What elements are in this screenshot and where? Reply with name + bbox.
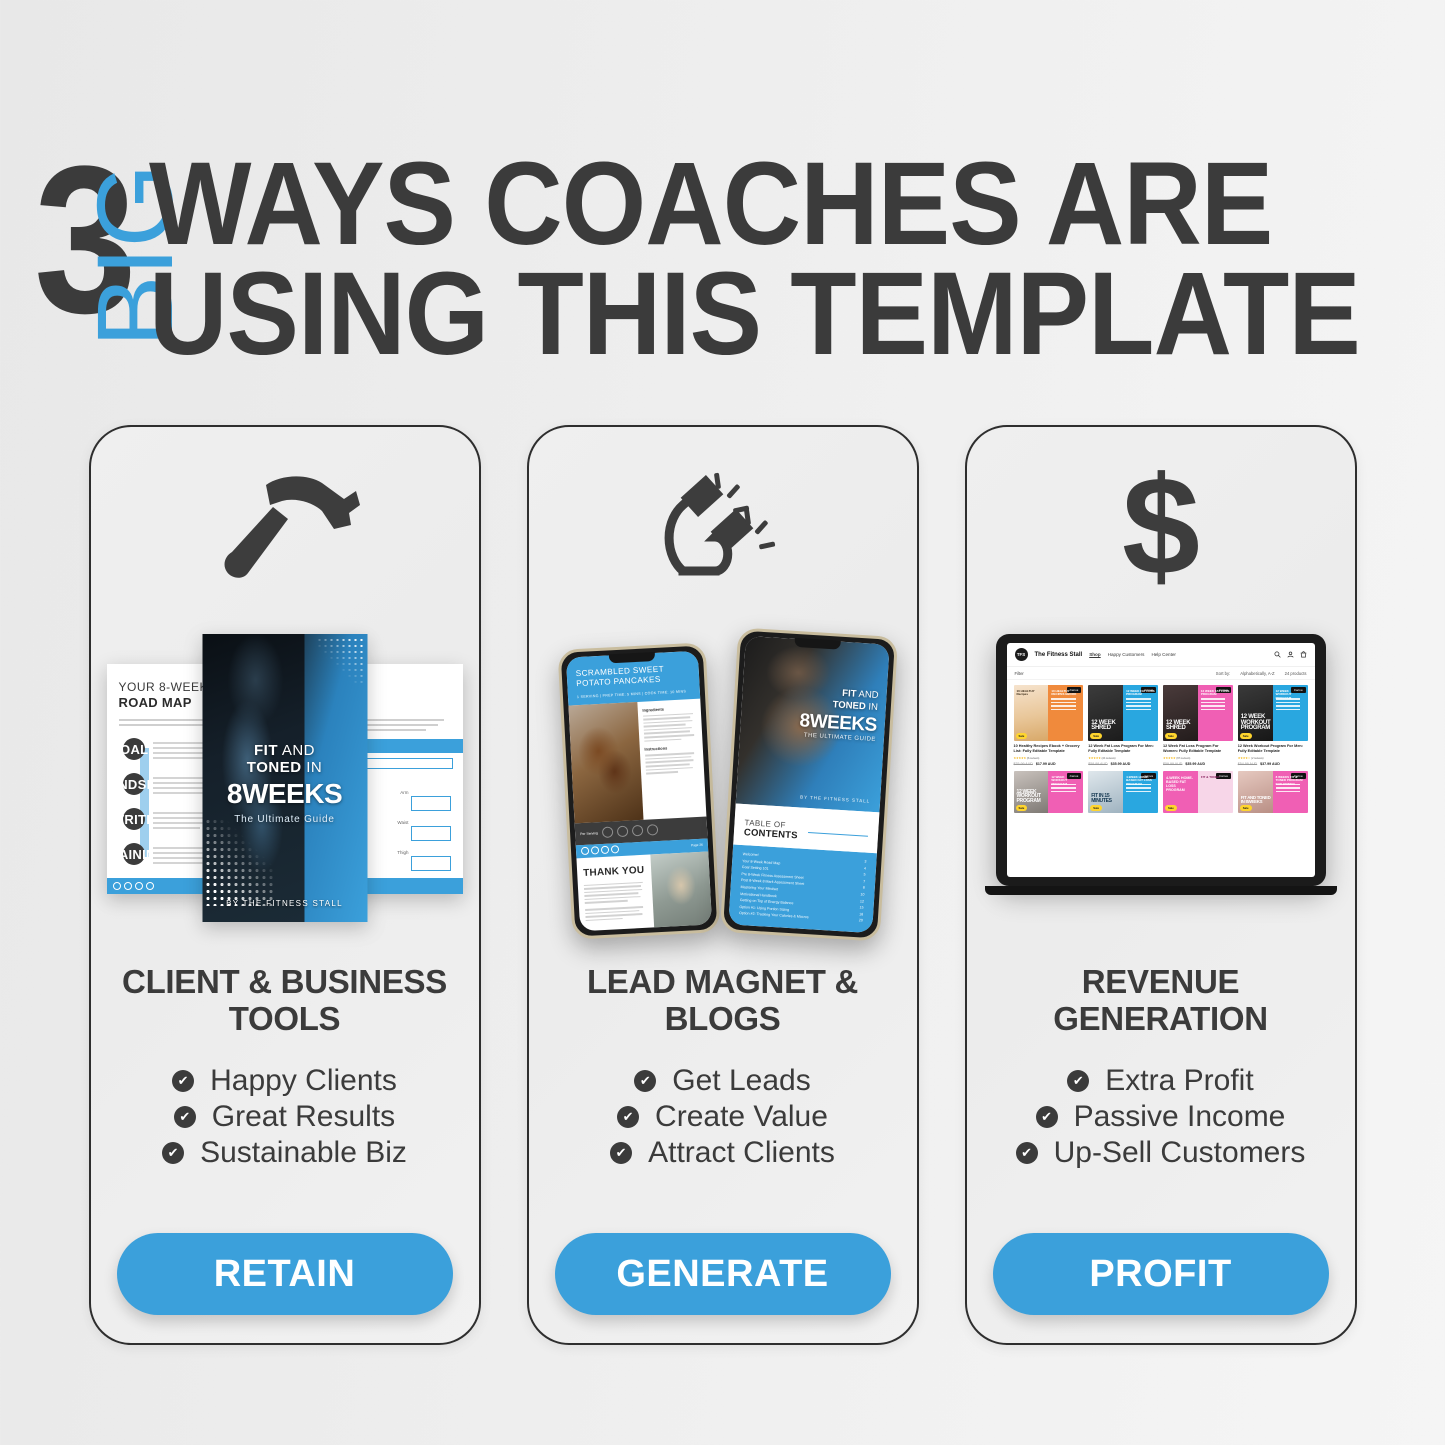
social-icon [580,847,588,855]
product-card[interactable]: 12 WEEK SHRED Sale Canva 12 WEEK FAT LOS… [1088,685,1158,766]
card-bullet-list: ✔ Extra Profit ✔ Passive Income ✔ Up-Sel… [1016,1064,1306,1170]
card-mockup-documents: YOUR 8-WEEK ROAD MAP GOALS MINDSET NUTRI… [91,612,479,942]
ebook-cover-photo: FIT AND TONED IN 8WEEKS THE ULTIMATE GUI… [735,636,889,813]
toc-heading-block: TABLE OF CONTENTS [733,804,879,854]
product-thumbnail: 10 HEALTHY Recipes Sale Canva 10 HEALTHY… [1014,685,1084,741]
social-icon [610,845,618,853]
phone-screen: SCRAMBLED SWEET POTATO PANCAKES 1 SERVIN… [565,651,711,932]
check-icon: ✔ [1067,1070,1089,1092]
card-title: REVENUE GENERATION [967,964,1355,1038]
product-title: 12 Week Workout Program For Men: Fully E… [1238,744,1308,754]
cover-caption: 12 WEEK SHRED [1091,721,1123,732]
headline-lines: WAYS COACHES ARE USING THIS TEMPLATE [149,150,1445,369]
cover-caption: 12 WEEK WORKOUT PROGRAM [1017,790,1049,804]
nav-link-help-center[interactable]: Help Center [1151,652,1176,657]
bullet-label: Attract Clients [648,1136,835,1170]
feature-card-client-business-tools[interactable]: YOUR 8-WEEK ROAD MAP GOALS MINDSET NUTRI… [89,425,481,1345]
product-panel: Canva FIT & TONED [1198,771,1233,813]
product-cover: 12 WEEK WORKOUT PROGRAM Sale [1238,685,1273,741]
product-card[interactable]: 12 WEEK SHRED Sale Canva 12 WEEK FAT LOS… [1163,685,1233,766]
check-icon: ✔ [162,1142,184,1164]
bullet-label: Extra Profit [1105,1064,1253,1098]
toc-label: Goal Setting 101 [741,865,768,871]
social-icon [590,846,598,854]
store-brand-name: The Fitness Stall [1035,652,1083,658]
review-count: (24 reviews) [1102,756,1116,760]
toc-page: 4 [863,866,865,870]
bullet-item: ✔ Create Value [617,1100,828,1134]
thank-you-photo [650,851,712,931]
thank-you-section: THANK YOU [576,851,712,931]
product-card[interactable]: 12 WEEK WORKOUT PROGRAM Sale Canva 12 WE… [1014,771,1084,813]
nutrition-circle [616,826,628,838]
bullet-label: Passive Income [1074,1100,1286,1134]
panel-caption: 10 HEALTHY RECIPES EBOOK [1051,690,1080,697]
product-thumbnail: 12 WEEK WORKOUT PROGRAM Sale Canva 12 WE… [1238,685,1308,741]
per-serving-label: Per Serving [580,831,598,836]
recipe-meta: 1 SERVING | PREP TIME: 5 MINS | COOK TIM… [576,689,690,699]
cta-button-generate[interactable]: GENERATE [555,1233,891,1315]
toc-label: Option #1: Using Portion Sizing [739,905,789,912]
bullet-item: ✔ Extra Profit [1067,1064,1253,1098]
old-price: $59.99 AUD [1163,762,1182,766]
card-title: CLIENT & BUSINESS TOOLS [91,964,479,1038]
social-icon [113,882,121,890]
store-navbar: TFS The Fitness Stall Shop Happy Custome… [1007,643,1315,667]
feature-card-lead-magnet-blogs[interactable]: SCRAMBLED SWEET POTATO PANCAKES 1 SERVIN… [527,425,919,1345]
measure-input [411,856,451,871]
product-rating: ★★★★★ (24 reviews) [1088,756,1158,760]
panel-caption: 12 WEEK FAT LOSS PROGRAM [1126,690,1155,697]
card-title: LEAD MAGNET & BLOGS [529,964,917,1038]
product-panel: Canva 12 WEEK WORKOUT PROGRAM [1273,685,1308,741]
recipe-section-instructions: Instructions [644,744,698,752]
review-count: (2 reviews) [1251,756,1263,760]
ebook-word-in: IN [306,759,322,776]
tablet-base [985,886,1337,895]
toc-page: 7 [863,879,865,883]
nav-link-happy-customers[interactable]: Happy Customers [1108,652,1145,657]
product-thumbnail: FIT IN 15 MINUTES Sale Canva 4-WEEK HOME… [1088,771,1158,813]
roadmap-spine [140,748,149,857]
bullet-label: Happy Clients [210,1064,397,1098]
sale-badge: Sale [1240,733,1252,739]
product-panel: Canva 8 WEEKS FIT & TONED PROGRAM FOR WO… [1273,771,1308,813]
roadmap-step-label: MINDSET [123,773,145,795]
bullet-label: Up-Sell Customers [1054,1136,1306,1170]
cover-caption: FIT AND TONED IN 8WEEKS [1241,796,1273,804]
current-price: $37.99 AUD [1260,762,1280,766]
page-label: Page 26 [690,843,702,848]
roadmap-step-label: GOALS [123,738,145,760]
toc-label: Your 8-Week Road Map [742,859,780,865]
bullet-item: ✔ Get Leads [634,1064,810,1098]
product-cover: 12 WEEK WORKOUT PROGRAM Sale [1014,771,1049,813]
sale-badge: Sale [1165,805,1177,811]
product-cover: 4-WEEK HOME-BASED FAT LOSS PROGRAM Sale [1163,771,1198,813]
nutrition-circle [631,825,643,837]
ebook-word-in: IN [867,702,877,714]
bullet-label: Sustainable Biz [200,1136,407,1170]
roadmap-step-label: NUTRITION [123,808,145,830]
hammer-icon [210,467,360,587]
sale-badge: Sale [1016,733,1028,739]
sale-badge: Sale [1240,805,1252,811]
sale-badge: Sale [1016,805,1028,811]
svg-text:$: $ [1122,462,1200,592]
product-cover: 10 HEALTHY Recipes Sale [1014,685,1049,741]
nutrition-circle [646,824,658,836]
bullet-item: ✔ Attract Clients [610,1136,835,1170]
product-rating: ★★★★☆ (2 reviews) [1238,756,1308,760]
cover-caption: 12 WEEK SHRED [1166,721,1198,732]
panel-caption: FIT & TONED [1201,776,1230,779]
card-mockup-phones: SCRAMBLED SWEET POTATO PANCAKES 1 SERVIN… [529,612,917,942]
product-panel: Canva 4-WEEK HOME-BASED FAT LOSS PROGRAM [1123,771,1158,813]
store-screen: TFS The Fitness Stall Shop Happy Custome… [1007,643,1315,877]
bullet-item: ✔ Passive Income [1036,1100,1286,1134]
product-title: 10 Healthy Recipes Ebook + Grocery List:… [1014,744,1084,754]
product-panel: Canva 12 WEEK FAT LOSS PROGRAM [1123,685,1158,741]
phone-mockup-recipe: SCRAMBLED SWEET POTATO PANCAKES 1 SERVIN… [557,642,720,939]
product-thumbnail: FIT AND TONED IN 8WEEKS Sale Canva 8 WEE… [1238,771,1308,813]
bullet-label: Great Results [212,1100,395,1134]
check-icon: ✔ [617,1106,639,1128]
product-cover: FIT IN 15 MINUTES Sale [1088,771,1123,813]
ebook-weeks: 8WEEKS [202,778,367,810]
ebook-title-block: FIT AND TONED IN 8WEEKS The Ultimate Gui… [202,742,367,825]
halftone-dots-top-right [316,637,364,685]
social-icon [135,882,143,890]
headline-line-2: USING THIS TEMPLATE [149,260,1360,370]
cover-caption: 12 WEEK WORKOUT PROGRAM [1241,715,1273,732]
toc-page: 20 [858,919,862,923]
current-price: $17.99 AUD [1036,762,1056,766]
store-nav-icons [1274,651,1307,658]
review-count: (6 reviews) [1027,756,1039,760]
panel-caption: 12 WEEK FAT LOSS PROGRAM [1201,690,1230,697]
ebook-word-toned: TONED [832,700,866,713]
store-filter-bar: Filter Sort by: Alphabetically, A-Z 24 p… [1007,667,1315,680]
toc-page: 8 [862,886,864,890]
toc-page: 18 [859,912,863,916]
product-price: $54.99 AUD$37.99 AUD [1238,762,1308,766]
ebook-title-block: FIT AND TONED IN 8WEEKS THE ULTIMATE GUI… [798,685,878,742]
card-icon-zone [91,427,479,612]
feature-cards-row: YOUR 8-WEEK ROAD MAP GOALS MINDSET NUTRI… [0,425,1445,1355]
card-bullet-list: ✔ Happy Clients ✔ Great Results ✔ Sustai… [162,1064,407,1170]
measure-label: Waist [397,820,408,825]
toc-page: 10 [860,892,864,896]
sale-badge: Sale [1090,733,1102,739]
ebook-word-and: AND [282,742,315,759]
toc-page: 12 [859,899,863,903]
product-card[interactable]: 4-WEEK HOME-BASED FAT LOSS PROGRAM Sale … [1163,771,1233,813]
recipe-photo [568,701,643,822]
ebook-word-fit: FIT [254,742,278,759]
recipe-body: Ingredients Instructions [568,698,706,823]
check-icon: ✔ [172,1070,194,1092]
dollar-icon: $ [1106,462,1216,592]
card-mockup-tablet: TFS The Fitness Stall Shop Happy Custome… [967,612,1355,942]
page-headline: 3 BIG WAYS COACHES ARE USING THIS TEMPLA… [34,148,1414,363]
filter-button[interactable]: Filter [1015,671,1024,676]
ebook-byline: BY THE FITNESS STALL [799,795,869,804]
ebook-cover: FIT AND TONED IN 8WEEKS The Ultimate Gui… [202,634,367,922]
product-thumbnail: 12 WEEK WORKOUT PROGRAM Sale Canva 12 WE… [1014,771,1084,813]
check-icon: ✔ [610,1142,632,1164]
check-icon: ✔ [1016,1142,1038,1164]
account-icon[interactable] [1287,651,1294,658]
product-price: $59.99 AUD$35.99 AUD [1163,762,1233,766]
product-thumbnail: 12 WEEK SHRED Sale Canva 12 WEEK FAT LOS… [1088,685,1158,741]
headline-line-1: WAYS COACHES ARE [149,150,1360,260]
bullet-label: Create Value [655,1100,828,1134]
product-card[interactable]: FIT AND TONED IN 8WEEKS Sale Canva 8 WEE… [1238,771,1308,813]
product-card[interactable]: 10 HEALTHY Recipes Sale Canva 10 HEALTHY… [1014,685,1084,766]
halftone-dots-bottom-left [204,818,272,906]
toc-label: Welcome! [742,852,758,857]
sale-badge: Sale [1165,733,1177,739]
nutrition-circle [601,826,613,838]
product-cover: 12 WEEK SHRED Sale [1088,685,1123,741]
product-panel: Canva 10 HEALTHY RECIPES EBOOK [1048,685,1083,741]
product-grid: 10 HEALTHY Recipes Sale Canva 10 HEALTHY… [1007,680,1315,818]
feature-card-revenue-generation[interactable]: $ TFS The Fitness Stall Shop Happy Custo… [965,425,1357,1345]
measure-label: Thigh [397,850,408,855]
cover-caption: FIT IN 15 MINUTES [1091,794,1123,804]
magnet-icon [653,467,793,587]
cta-button-profit[interactable]: PROFIT [993,1233,1329,1315]
product-panel: Canva 12 WEEK FAT LOSS PROGRAM [1198,685,1233,741]
bullet-item: ✔ Sustainable Biz [162,1136,407,1170]
product-count: 24 products [1285,671,1307,676]
bullet-item: ✔ Happy Clients [172,1064,397,1098]
card-icon-zone: $ [967,427,1355,612]
cover-caption: 4-WEEK HOME-BASED FAT LOSS PROGRAM [1166,776,1195,793]
product-price: $59.99 AUD$35.99 AUD [1088,762,1158,766]
social-icon [124,882,132,890]
toc-label: Option #2: Tracking Your Calories & Macr… [738,911,808,919]
cover-caption: 10 HEALTHY Recipes [1017,690,1046,697]
toc-label: Mastering Your Mindset [740,885,778,891]
cta-button-retain[interactable]: RETAIN [117,1233,453,1315]
sale-badge: Sale [1090,805,1102,811]
check-icon: ✔ [634,1070,656,1092]
product-title: 12 Week Fat Loss Program For Women: Full… [1163,744,1233,754]
bullet-item: ✔ Up-Sell Customers [1016,1136,1306,1170]
toc-page: 5 [863,873,865,877]
sort-select[interactable]: Alphabetically, A-Z [1240,671,1274,676]
old-price: $54.99 AUD [1238,762,1257,766]
product-rating: ★★★★★ (67 reviews) [1163,756,1233,760]
product-cover: FIT AND TONED IN 8WEEKS Sale [1238,771,1273,813]
check-icon: ✔ [1036,1106,1058,1128]
measure-label: Arm [400,790,408,795]
measure-input [411,826,451,841]
product-panel: Canva 12 WEEK WORKOUT PROGRAM [1048,771,1083,813]
current-price: $35.99 AUD [1111,762,1131,766]
toc-list: Welcome!3 Your 8-Week Road Map4 Goal Set… [728,845,877,934]
tablet-mockup: TFS The Fitness Stall Shop Happy Custome… [996,634,1326,886]
recipe-text-column: Ingredients Instructions [636,698,705,819]
product-thumbnail: 4-WEEK HOME-BASED FAT LOSS PROGRAM Sale … [1163,771,1233,813]
toc-page: 15 [859,906,863,910]
product-title: 12 Week Fat Loss Program For Men: Fully … [1088,744,1158,754]
ebook-word-toned: TONED [247,759,302,776]
old-price: $35.99 AUD [1014,762,1033,766]
social-icon [146,882,154,890]
phone-mockup-ebook: FIT AND TONED IN 8WEEKS THE ULTIMATE GUI… [719,627,897,941]
cart-icon[interactable] [1300,651,1307,658]
toc-page: 3 [864,860,866,864]
card-bullet-list: ✔ Get Leads ✔ Create Value ✔ Attract Cli… [610,1064,835,1170]
search-icon[interactable] [1274,651,1281,658]
bullet-item: ✔ Great Results [174,1100,395,1134]
current-price: $35.99 AUD [1185,762,1205,766]
recipe-title: SCRAMBLED SWEET POTATO PANCAKES [575,663,690,689]
old-price: $59.99 AUD [1088,762,1107,766]
product-rating: ★★★★★ (6 reviews) [1014,756,1084,760]
card-icon-zone [529,427,917,612]
ebook-word-and: AND [858,689,879,701]
roadmap-step-label: TRAINING [123,843,145,865]
check-icon: ✔ [174,1106,196,1128]
product-thumbnail: 12 WEEK SHRED Sale Canva 12 WEEK FAT LOS… [1163,685,1233,741]
product-cover: 12 WEEK SHRED Sale [1163,685,1198,741]
store-logo: TFS [1015,648,1028,661]
product-card[interactable]: FIT IN 15 MINUTES Sale Canva 4-WEEK HOME… [1088,771,1158,813]
review-count: (67 reviews) [1176,756,1190,760]
recipe-section-ingredients: Ingredients [642,704,696,712]
toc-label: Motivational Handbook [740,892,777,898]
sort-label: Sort by: [1216,671,1230,676]
measure-input [411,796,451,811]
product-price: $35.99 AUD$17.99 AUD [1014,762,1084,766]
bullet-label: Get Leads [672,1064,810,1098]
nav-link-shop[interactable]: Shop [1089,652,1100,657]
phone-screen: FIT AND TONED IN 8WEEKS THE ULTIMATE GUI… [728,636,889,933]
ebook-word-fit: FIT [841,688,856,700]
social-icon [600,846,608,854]
product-card[interactable]: 12 WEEK WORKOUT PROGRAM Sale Canva 12 WE… [1238,685,1308,766]
thank-you-heading: THANK YOU [582,864,644,878]
